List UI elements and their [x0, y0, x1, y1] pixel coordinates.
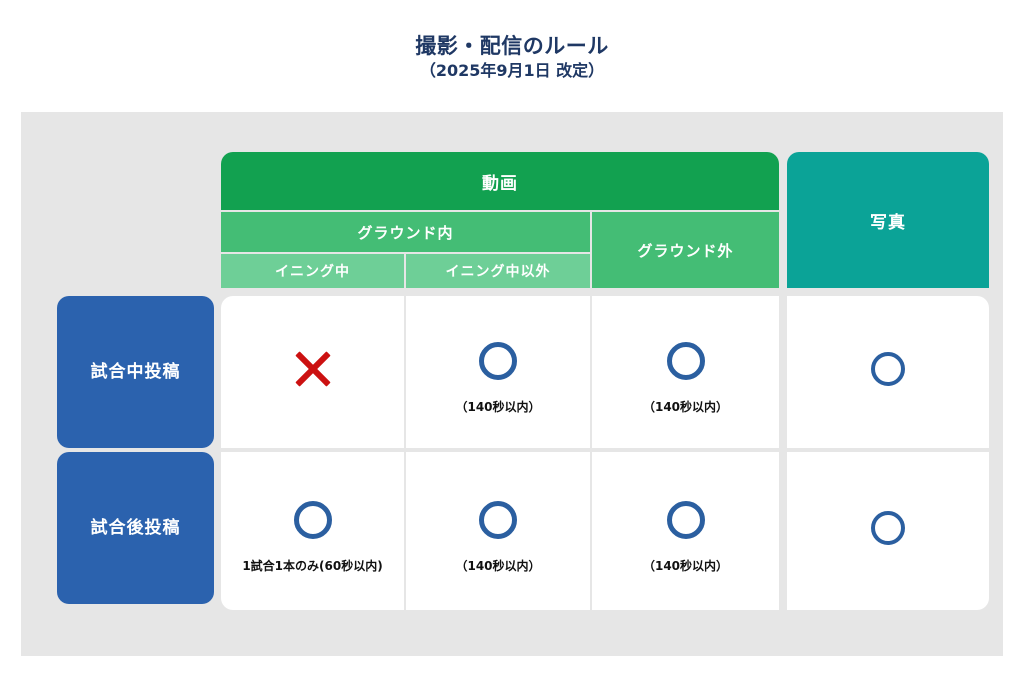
cell-during-photo	[787, 296, 989, 448]
header-photo: 写真	[787, 152, 989, 288]
header-ground-in: グラウンド内	[221, 212, 590, 252]
circle-icon	[479, 489, 517, 551]
circle-icon	[871, 338, 905, 400]
cell-after-photo	[787, 452, 989, 610]
cell-during-inning-other: （140秒以内）	[406, 296, 590, 448]
row-label-during-game: 試合中 投稿	[57, 296, 214, 448]
row-label-during-game-line1: 試合中	[91, 360, 145, 385]
cell-note: 1試合1本のみ(60秒以内)	[242, 557, 382, 574]
row-label-after-game: 試合後 投稿	[57, 452, 214, 604]
circle-icon	[479, 330, 517, 392]
rules-panel: 動画 写真 グラウンド内 グラウンド外 イニング中 イニング中以外 試合中 投稿…	[21, 112, 1003, 656]
page-title: 撮影・配信のルール	[0, 33, 1024, 59]
cell-note: （140秒以内）	[455, 557, 540, 574]
cell-note: （140秒以内）	[643, 398, 728, 415]
circle-icon	[294, 489, 332, 551]
cell-note: （140秒以内）	[455, 398, 540, 415]
header-inning-other: イニング中以外	[406, 254, 590, 288]
row-label-during-game-line2: 投稿	[145, 360, 181, 385]
cell-note: （140秒以内）	[643, 557, 728, 574]
header-ground-out: グラウンド外	[592, 212, 779, 288]
header-inning-during: イニング中	[221, 254, 404, 288]
cell-during-inning-during	[221, 296, 404, 448]
cross-icon	[294, 338, 332, 400]
circle-icon	[667, 489, 705, 551]
row-label-after-game-line1: 試合後	[91, 516, 145, 541]
row-label-after-game-line2: 投稿	[145, 516, 181, 541]
header-video: 動画	[221, 152, 779, 210]
cell-during-ground-out: （140秒以内）	[592, 296, 779, 448]
page-subtitle: （2025年9月1日 改定）	[0, 60, 1024, 82]
cell-after-inning-other: （140秒以内）	[406, 452, 590, 610]
circle-icon	[871, 497, 905, 559]
circle-icon	[667, 330, 705, 392]
page-title-block: 撮影・配信のルール （2025年9月1日 改定）	[0, 33, 1024, 82]
cell-after-inning-during: 1試合1本のみ(60秒以内)	[221, 452, 404, 610]
cell-after-ground-out: （140秒以内）	[592, 452, 779, 610]
rules-table: 動画 写真 グラウンド内 グラウンド外 イニング中 イニング中以外 試合中 投稿…	[57, 152, 989, 622]
